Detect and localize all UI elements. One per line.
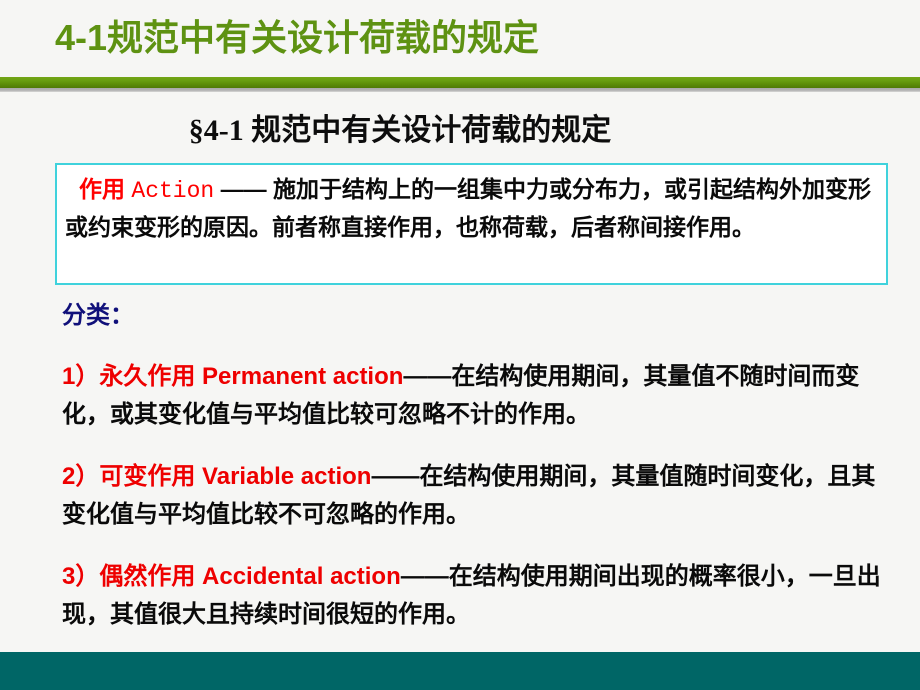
item-number: 1） <box>62 363 99 390</box>
title-divider-shadow <box>0 88 920 92</box>
list-item: 1）永久作用 Permanent action——在结构使用期间，其量值不随时间… <box>62 358 898 434</box>
definition-term-en: Action <box>131 178 214 204</box>
item-name-cn: 可变作用 <box>99 463 195 490</box>
classification-label: 分类： <box>62 300 134 332</box>
footer-band <box>0 652 920 690</box>
item-number: 3） <box>62 563 99 590</box>
item-name-cn: 永久作用 <box>99 363 195 390</box>
item-name-cn: 偶然作用 <box>99 563 195 590</box>
section-subtitle: §4-1 规范中有关设计荷载的规定 <box>0 112 920 150</box>
item-name-en: Accidental action <box>202 563 401 590</box>
list-item: 2）可变作用 Variable action——在结构使用期间，其量值随时间变化… <box>62 458 898 534</box>
item-name-en: Variable action <box>202 463 371 490</box>
definition-box: 作用 Action —— 施加于结构上的一组集中力或分布力，或引起结构外加变形或… <box>55 163 888 285</box>
list-item: 3）偶然作用 Accidental action——在结构使用期间出现的概率很小… <box>62 558 898 634</box>
definition-text: 作用 Action —— 施加于结构上的一组集中力或分布力，或引起结构外加变形或… <box>65 171 878 245</box>
definition-dash: —— <box>214 176 273 202</box>
page-title: 4-1规范中有关设计荷载的规定 <box>55 14 539 62</box>
item-name-en: Permanent action <box>202 363 403 390</box>
item-number: 2） <box>62 463 99 490</box>
title-divider-bar <box>0 77 920 88</box>
definition-term-cn: 作用 <box>79 176 125 202</box>
